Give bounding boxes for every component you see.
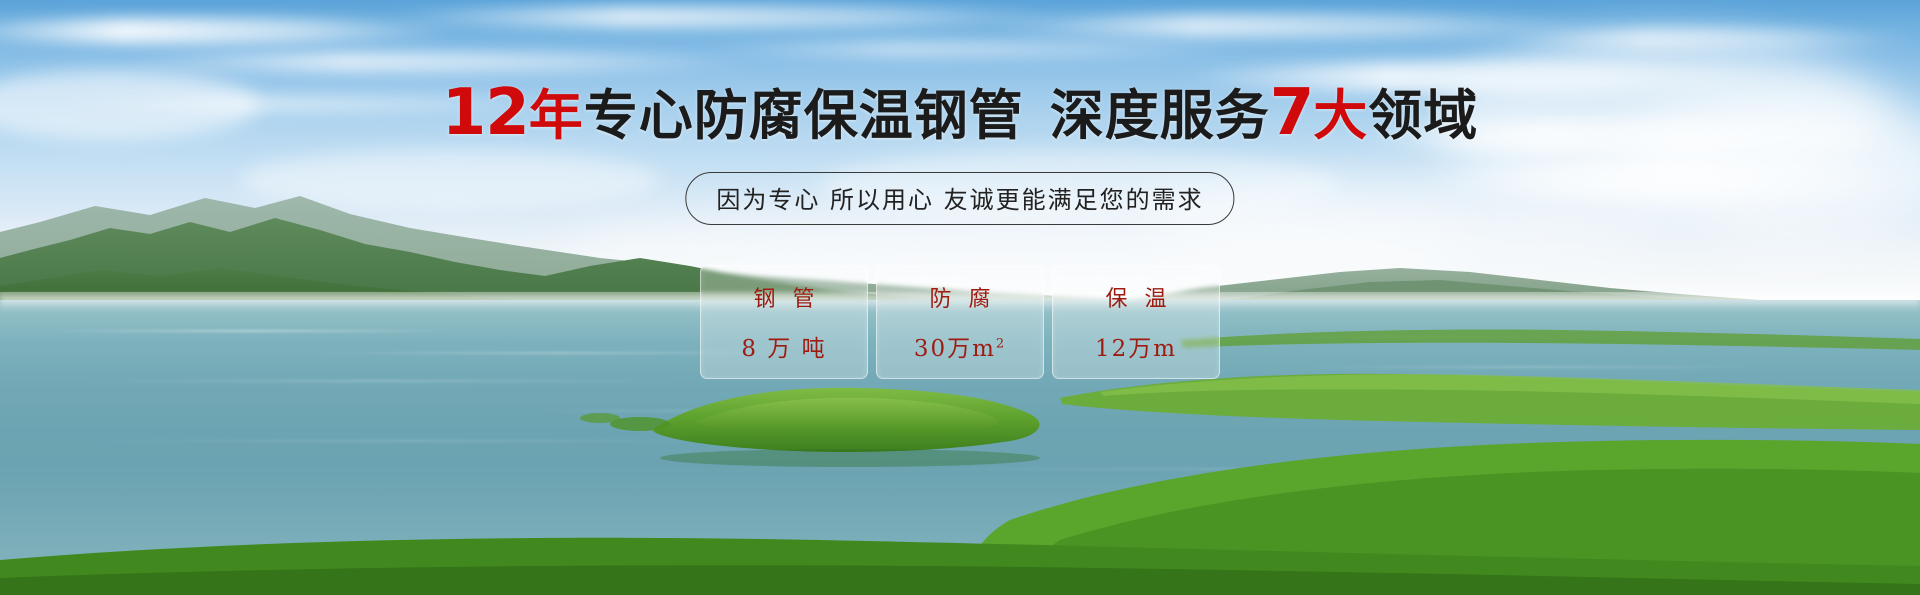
stat-cards: 钢 管 8 万 吨 防 腐 30万m2 保 温 12万m (700, 265, 1220, 379)
stat-card-title: 保 温 (1101, 281, 1172, 313)
headline-fields-number: 7 (1270, 76, 1314, 150)
stat-card-value-text: 8 万 吨 (741, 336, 826, 362)
stat-card-value-text: 12万m (1095, 336, 1177, 362)
page-title: 12年专心防腐保温钢管深度服务7大领域 (0, 84, 1920, 145)
headline-main-text: 专心防腐保温钢管 (584, 84, 1024, 147)
headline-years-unit: 年 (529, 84, 584, 147)
headline-service-text: 深度服务 (1050, 84, 1270, 147)
hero-banner: 12年专心防腐保温钢管深度服务7大领域 因为专心 所以用心 友诚更能满足您的需求… (0, 0, 1920, 595)
subtitle-pill: 因为专心 所以用心 友诚更能满足您的需求 (685, 172, 1234, 225)
stat-card-value-exponent: 2 (996, 336, 1006, 351)
stat-card-value: 8 万 吨 (741, 329, 826, 363)
stat-card-value: 30万m2 (914, 329, 1006, 363)
stat-card-title: 防 腐 (925, 281, 996, 313)
headline-years-number: 12 (442, 76, 529, 150)
stat-card-title: 钢 管 (749, 281, 820, 313)
stat-card-value: 12万m (1095, 329, 1177, 363)
headline-fields-unit: 大 (1313, 84, 1368, 147)
headline-fields-text: 领域 (1368, 84, 1478, 147)
stat-card-value-text: 30万m (914, 336, 996, 362)
stat-card-anticorrosion[interactable]: 防 腐 30万m2 (876, 265, 1044, 379)
stat-card-steel-pipe[interactable]: 钢 管 8 万 吨 (700, 265, 868, 379)
stat-card-insulation[interactable]: 保 温 12万m (1052, 265, 1220, 379)
